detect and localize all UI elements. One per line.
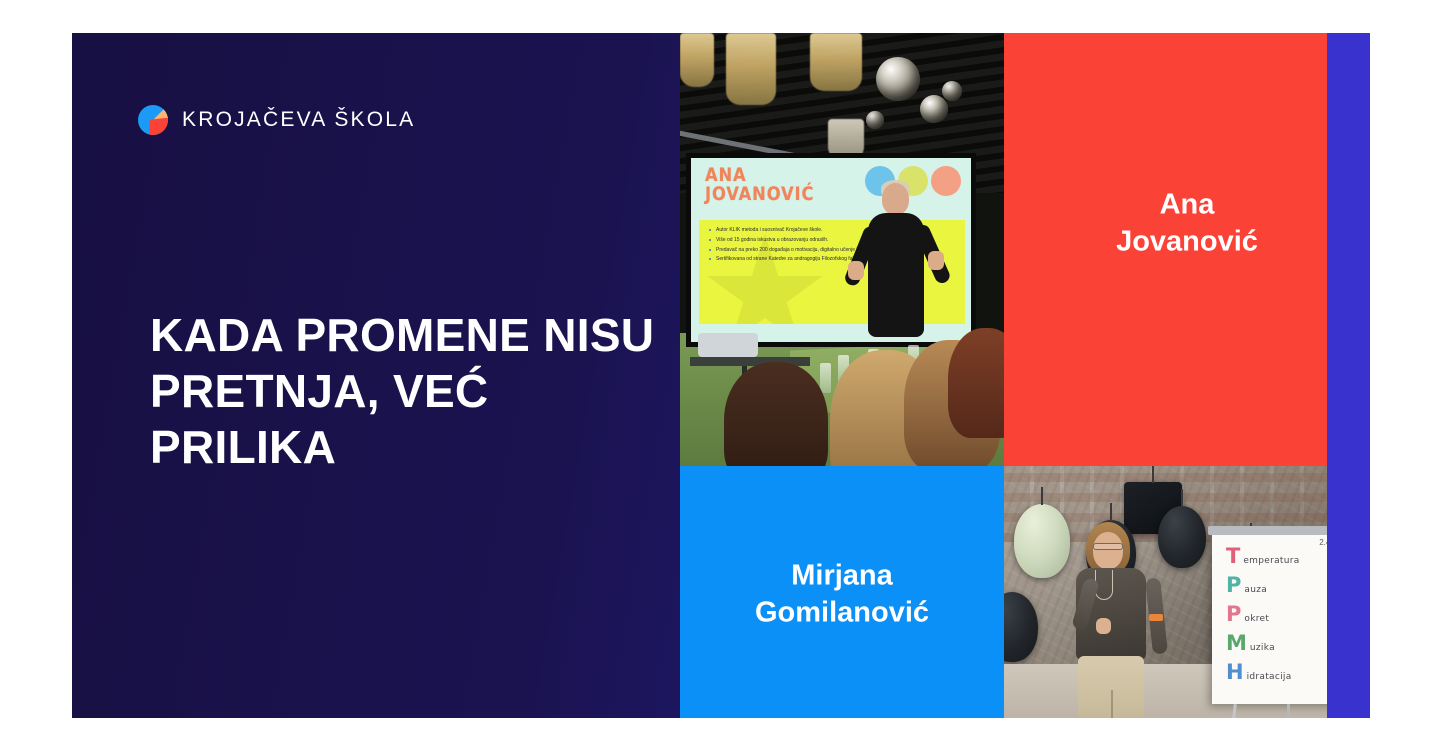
audience-head: [948, 328, 1004, 438]
acronym-word: idratacija: [1247, 672, 1292, 682]
swoosh-blue: [72, 514, 462, 718]
mirror-ball-icon: [920, 95, 948, 123]
media-grid: ANA JOVANOVIĆ Autor KLIK metoda i suosni…: [680, 33, 1370, 718]
speaker-name-mirjana: Mirjana Gomilanović: [680, 557, 1004, 632]
speaker-figure: [848, 183, 944, 359]
krojaceva-skola-circle-logo-icon: [138, 105, 168, 135]
chandelier-icon: [810, 33, 862, 91]
mirror-ball-icon: [866, 111, 884, 129]
presenter-hand: [1096, 618, 1111, 634]
acronym-letter: T: [1226, 548, 1240, 565]
photo-flipchart-room: 2.45° T emperatura P auza P o: [1004, 466, 1370, 718]
brand-name: KROJAČEVA ŠKOLA: [182, 108, 415, 132]
hanging-stem: [1181, 489, 1183, 507]
chandelier-icon: [726, 33, 776, 105]
projector-device: [698, 333, 758, 357]
page-title: KADA PROMENE NISU PRETNJA, VEĆ PRILIKA: [150, 307, 670, 475]
logo-segment-orange: [153, 105, 168, 120]
projected-slide-title: ANA JOVANOVIĆ: [705, 166, 814, 204]
acronym-letter: P: [1226, 577, 1241, 594]
presenter-figure: [1062, 522, 1166, 718]
chandelier-icon: [680, 33, 714, 87]
swoosh-red: [72, 484, 492, 718]
water-glass: [820, 363, 831, 393]
acronym-word: auza: [1244, 585, 1267, 595]
hanging-stem: [1110, 503, 1112, 521]
slide-card: KROJAČEVA ŠKOLA KADA PROMENE NISU PRETNJ…: [72, 33, 1370, 718]
speaker-name-ana: Ana Jovanović: [1004, 186, 1370, 261]
mirror-ball-icon: [876, 57, 920, 101]
wristwatch-icon: [1149, 614, 1163, 621]
speaker-head: [882, 183, 909, 215]
slide-canvas: KROJAČEVA ŠKOLA KADA PROMENE NISU PRETNJ…: [0, 0, 1440, 756]
acronym-word: emperatura: [1243, 556, 1299, 566]
acronym-letter: M: [1226, 635, 1247, 652]
brand-lockup: KROJAČEVA ŠKOLA: [138, 105, 415, 135]
glasses-icon: [1093, 543, 1123, 550]
flipchart-leg: [1287, 704, 1290, 718]
flipchart-leg: [1226, 704, 1237, 718]
logo-segment-red: [149, 118, 168, 135]
acronym-letter: P: [1226, 606, 1241, 623]
presenter-trousers: [1078, 656, 1144, 718]
accent-bar-right: [1327, 33, 1370, 718]
speaker-panel-mirjana: Mirjana Gomilanović: [680, 466, 1004, 718]
decorative-swoosh-group: [72, 458, 492, 718]
speaker-hand-right: [928, 251, 944, 270]
audience-head: [724, 362, 828, 466]
acronym-letter: H: [1226, 664, 1244, 681]
photo-conference-talk: ANA JOVANOVIĆ Autor KLIK metoda i suosni…: [680, 33, 1004, 466]
acronym-word: okret: [1244, 614, 1269, 624]
hanging-stem: [1041, 487, 1043, 505]
mirror-ball-icon: [942, 81, 962, 101]
acronym-word: uzika: [1250, 643, 1275, 653]
hanging-stem: [1152, 466, 1154, 483]
speaker-hand-left: [848, 261, 864, 280]
presenter-face: [1093, 532, 1123, 569]
speaker-panel-ana: Ana Jovanović: [1004, 33, 1370, 466]
swoosh-orange: [72, 458, 492, 718]
